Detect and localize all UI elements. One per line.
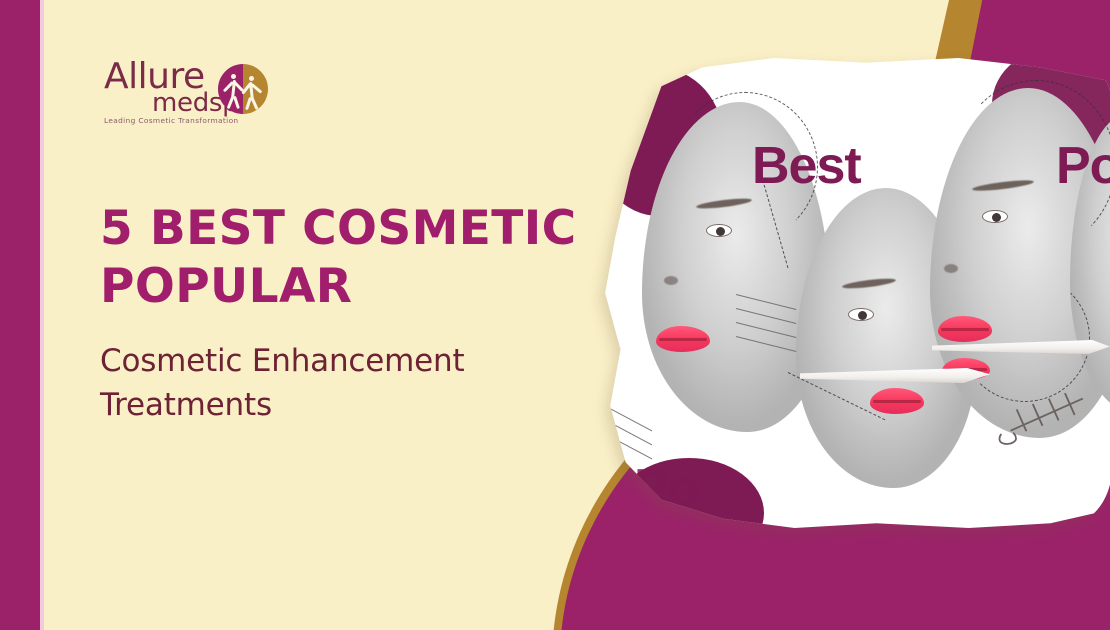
dashed-guide-jawline-3 [960, 274, 1090, 402]
banner-headline: 5 BEST COSMETIC POPULAR [100, 200, 600, 317]
collage-word-po: Po [1056, 136, 1110, 196]
cosmetic-treatment-photo-collage: Best Po Po [600, 58, 1110, 528]
banner-subtitle: Cosmetic Enhancement Treatments [100, 339, 600, 427]
logo-emblem-icon [218, 64, 268, 114]
banner-content-column: Allure medspa Leading Cosmetic Transform… [100, 56, 620, 427]
face-2-lips [870, 388, 924, 414]
collage-word-best: Best [752, 136, 861, 196]
face-2-eye [848, 308, 874, 321]
promotional-banner: Best Po Po Allure medspa Leading Cosmeti… [0, 0, 1110, 630]
face-3-nose [944, 264, 958, 273]
allure-medspa-logo[interactable]: Allure medspa Leading Cosmetic Transform… [100, 56, 275, 134]
left-magenta-border-strip [0, 0, 40, 630]
collage-word-po-alt: Po [634, 458, 698, 518]
face-1-lips [656, 326, 710, 352]
face-1-nose [664, 276, 678, 285]
left-pink-highlight-line [40, 0, 44, 630]
logo-tagline: Leading Cosmetic Transformation [104, 116, 238, 125]
lift-line-7 [606, 434, 653, 460]
